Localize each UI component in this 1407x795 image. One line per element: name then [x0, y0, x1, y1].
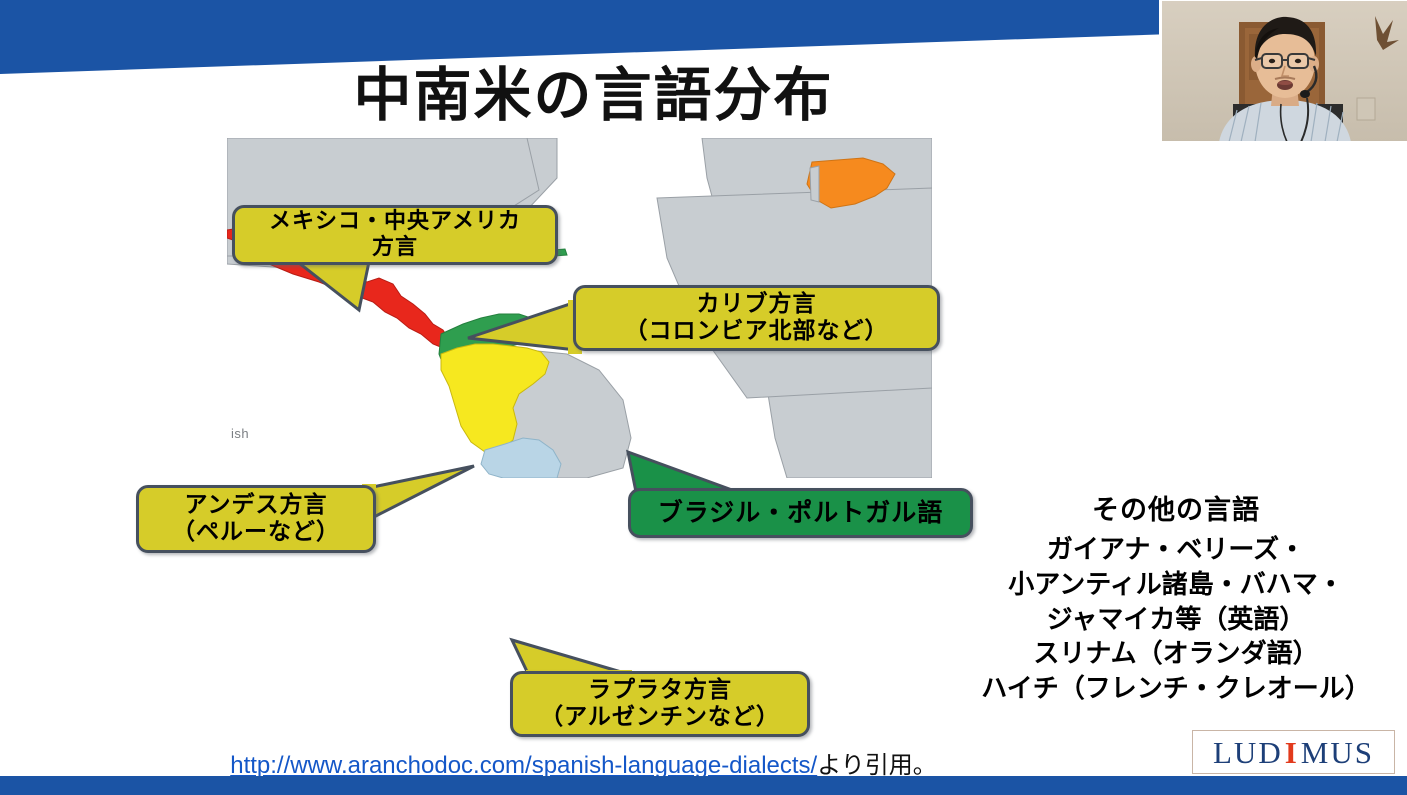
callout-mexico-central-america[interactable]: メキシコ・中央アメリカ 方言	[232, 205, 558, 265]
source-citation-suffix: より引用。	[817, 751, 937, 779]
slide-canvas: 中南米の言語分布	[0, 0, 1407, 795]
page-title: 中南米の言語分布	[0, 48, 1297, 132]
source-citation: http://www.aranchodoc.com/spanish-langua…	[0, 745, 1287, 780]
callout-andes[interactable]: アンデス方言 （ペルーなど）	[136, 485, 376, 553]
callout-river-plate[interactable]: ラプラタ方言 （アルゼンチンなど）	[510, 671, 810, 737]
callout-tail-andes	[362, 466, 478, 522]
logo-accent-i: I	[1283, 735, 1301, 770]
bottom-blue-bar	[0, 776, 1407, 795]
other-languages-heading: その他の言語	[945, 488, 1407, 527]
map-faint-label: ish	[231, 426, 249, 441]
callout-line: （ペルーなど）	[172, 519, 340, 546]
other-languages-block: その他の言語 ガイアナ・ベリーズ・ 小アンティル諸島・バハマ・ ジャマイカ等（英…	[945, 488, 1407, 707]
callout-line: ラプラタ方言	[540, 677, 780, 704]
ludimus-logo: LUDIMUS	[1192, 730, 1395, 774]
callout-caribbean[interactable]: カリブ方言 （コロンビア北部など）	[573, 285, 940, 351]
callout-brazil-portuguese[interactable]: ブラジル・ポルトガル語	[628, 488, 973, 538]
callout-tail-caribbean	[468, 300, 580, 354]
callout-line: （コロンビア北部など）	[625, 318, 889, 345]
other-languages-line: 小アンティル諸島・バハマ・	[945, 568, 1407, 603]
callout-line: メキシコ・中央アメリカ	[269, 209, 521, 235]
callout-line: カリブ方言	[625, 291, 889, 318]
other-languages-line: ガイアナ・ベリーズ・	[945, 533, 1407, 568]
presenter-webcam-video[interactable]	[1159, 0, 1407, 142]
other-languages-line: ジャマイカ等（英語）	[945, 603, 1407, 638]
callout-line: ブラジル・ポルトガル語	[658, 498, 944, 528]
logo-part1: LUD	[1213, 735, 1283, 770]
other-languages-line: ハイチ（フレンチ・クレオール）	[945, 672, 1407, 707]
logo-part2: MUS	[1301, 735, 1374, 770]
other-languages-line: スリナム（オランダ語）	[945, 637, 1407, 672]
callout-line: 方言	[269, 235, 521, 261]
source-url-link[interactable]: http://www.aranchodoc.com/spanish-langua…	[230, 752, 817, 779]
callout-line: アンデス方言	[172, 492, 340, 519]
callout-line: （アルゼンチンなど）	[540, 704, 780, 731]
